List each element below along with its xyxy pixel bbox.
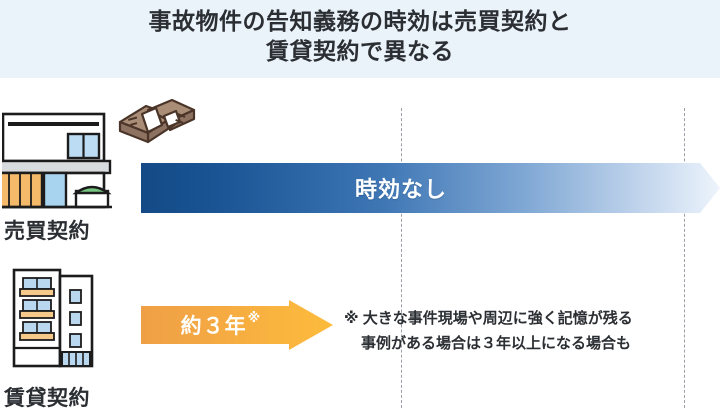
timeline-bar-sale-label: 時効なし (141, 163, 661, 213)
page-title: 事故物件の告知義務の時効は売買契約と賃貸契約で異なる (0, 6, 720, 66)
timeline-bar-rent-label: 約３年※ (141, 300, 301, 350)
footnote-line-1: ※ 大きな事件現場や周辺に強く記憶が残る (344, 306, 720, 331)
footnote-text: ※ 大きな事件現場や周辺に強く記憶が残る 事例がある場合は３年以上になる場合も (344, 306, 720, 356)
footnote-marker: ※ (248, 310, 262, 326)
category-label-sale: 売買契約 (4, 215, 90, 245)
timeline-bar-rent: 約３年※ (141, 300, 333, 350)
footnote-line-2: 事例がある場合は３年以上になる場合も (344, 331, 720, 356)
gridline-1 (401, 108, 402, 408)
title-line-2: 賃貸契約で異なる (266, 38, 454, 64)
shop-building-icon (2, 112, 114, 210)
timeline-bar-sale: 時効なし (141, 163, 720, 213)
money-bundle-icon (112, 92, 198, 158)
gridline-2 (684, 108, 685, 408)
infographic-canvas: 事故物件の告知義務の時効は売買契約と賃貸契約で異なる (0, 0, 720, 415)
rent-duration-text: 約３年 (181, 310, 247, 340)
title-line-1: 事故物件の告知義務の時効は売買契約と (149, 8, 572, 34)
category-label-rent: 賃貸契約 (4, 382, 90, 412)
apartment-building-icon (12, 262, 96, 374)
